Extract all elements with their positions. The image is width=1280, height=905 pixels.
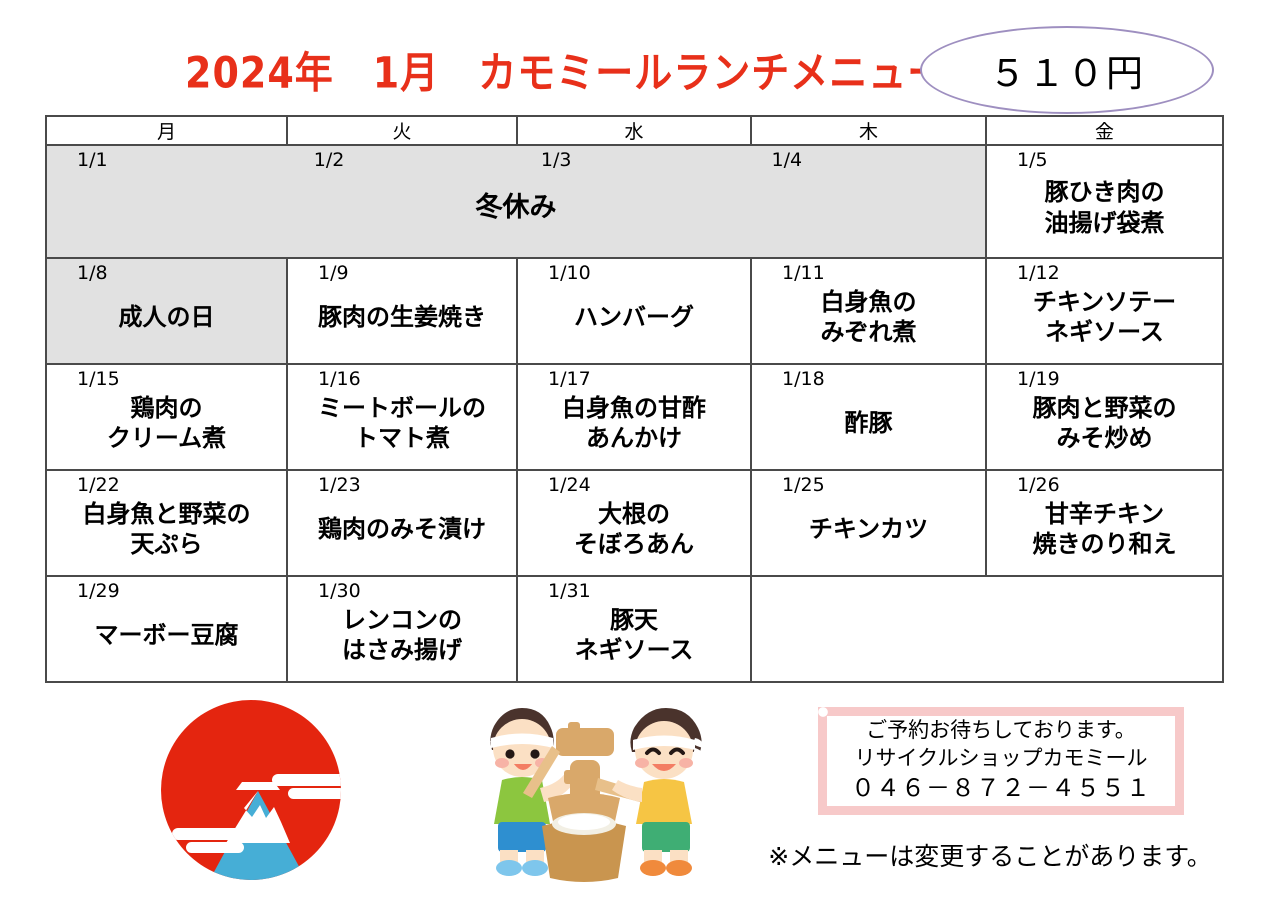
cell-date: 1/1 bbox=[53, 150, 290, 171]
cell-date: 1/31 bbox=[524, 581, 744, 602]
reservation-stamp-box: ご予約お待ちしております。 リサイクルショップカモミール ０４６－８７２－４５５… bbox=[818, 707, 1184, 815]
table-row: 1/29 マーボー豆腐 1/30 レンコンの はさみ揚げ 1/31 豚天 ネギソ… bbox=[46, 576, 1223, 682]
cell-menu: ミートボールの トマト煮 bbox=[294, 390, 510, 461]
price-label: ５１０円 bbox=[989, 43, 1145, 97]
cell-menu: ハンバーグ bbox=[524, 284, 744, 355]
table-header-row: 月 火 水 木 金 bbox=[46, 116, 1223, 145]
menu-cell: 1/12 チキンソテー ネギソース bbox=[986, 258, 1223, 364]
winter-break-cell: 1/1 1/2 1/3 1/4 冬休み bbox=[46, 145, 986, 258]
reservation-line-1: ご予約お待ちしております。 bbox=[866, 717, 1136, 745]
menu-cell: 1/24 大根の そぼろあん bbox=[517, 470, 751, 576]
menu-cell: 1/17 白身魚の甘酢 あんかけ bbox=[517, 364, 751, 470]
page-header: 2024年 1月 カモミールランチメニュー ５１０円 bbox=[0, 0, 1280, 110]
day-header-tuesday: 火 bbox=[287, 116, 517, 145]
reservation-inner: ご予約お待ちしております。 リサイクルショップカモミール ０４６－８７２－４５５… bbox=[827, 716, 1175, 806]
menu-cell: 1/31 豚天 ネギソース bbox=[517, 576, 751, 682]
menu-cell: 1/15 鶏肉の クリーム煮 bbox=[46, 364, 287, 470]
cell-date: 1/24 bbox=[524, 475, 744, 496]
day-header-wednesday: 水 bbox=[517, 116, 751, 145]
cell-menu: レンコンの はさみ揚げ bbox=[294, 602, 510, 673]
cell-date: 1/9 bbox=[294, 263, 510, 284]
cell-menu: 豚肉と野菜の みそ炒め bbox=[993, 390, 1216, 461]
cell-menu: 鶏肉の クリーム煮 bbox=[53, 390, 280, 461]
cell-date: 1/18 bbox=[758, 369, 979, 390]
menu-cell: 1/11 白身魚の みぞれ煮 bbox=[751, 258, 986, 364]
empty-cell bbox=[751, 576, 1223, 682]
mochi-pounding-children-icon bbox=[436, 698, 716, 883]
cell-menu: 鶏肉のみそ漬け bbox=[294, 496, 510, 567]
cell-menu: 大根の そぼろあん bbox=[524, 496, 744, 567]
monthly-menu-table: 月 火 水 木 金 1/1 1/2 1/3 1/4 冬休み bbox=[45, 115, 1224, 683]
reservation-phone[interactable]: ０４６－８７２－４５５１ bbox=[851, 773, 1151, 804]
reservation-line-2: リサイクルショップカモミール bbox=[855, 745, 1148, 773]
cell-date: 1/19 bbox=[993, 369, 1216, 390]
cell-menu: 酢豚 bbox=[758, 390, 979, 461]
cell-menu: 豚天 ネギソース bbox=[524, 602, 744, 673]
cell-date: 1/11 bbox=[758, 263, 979, 284]
menu-cell: 1/22 白身魚と野菜の 天ぷら bbox=[46, 470, 287, 576]
menu-cell: 1/10 ハンバーグ bbox=[517, 258, 751, 364]
cell-date: 1/26 bbox=[993, 475, 1216, 496]
child-right bbox=[612, 708, 703, 876]
menu-cell-holiday: 1/8 成人の日 bbox=[46, 258, 287, 364]
cell-date: 1/3 bbox=[517, 150, 748, 171]
cell-date: 1/8 bbox=[53, 263, 280, 284]
cell-date: 1/22 bbox=[53, 475, 280, 496]
cell-menu: マーボー豆腐 bbox=[53, 602, 280, 673]
table-row: 1/15 鶏肉の クリーム煮 1/16 ミートボールの トマト煮 1/17 白身… bbox=[46, 364, 1223, 470]
cell-menu: チキンカツ bbox=[758, 496, 979, 567]
cell-date: 1/25 bbox=[758, 475, 979, 496]
day-header-friday: 金 bbox=[986, 116, 1223, 145]
menu-cell: 1/16 ミートボールの トマト煮 bbox=[287, 364, 517, 470]
table-row: 1/8 成人の日 1/9 豚肉の生姜焼き 1/10 ハンバーグ 1/11 bbox=[46, 258, 1223, 364]
cell-date: 1/30 bbox=[294, 581, 510, 602]
cell-menu: 白身魚の甘酢 あんかけ bbox=[524, 390, 744, 461]
menu-cell: 1/9 豚肉の生姜焼き bbox=[287, 258, 517, 364]
menu-cell: 1/26 甘辛チキン 焼きのり和え bbox=[986, 470, 1223, 576]
menu-cell: 1/29 マーボー豆腐 bbox=[46, 576, 287, 682]
menu-cell: 1/25 チキンカツ bbox=[751, 470, 986, 576]
price-badge: ５１０円 bbox=[920, 26, 1214, 114]
cell-menu: 白身魚の みぞれ煮 bbox=[758, 284, 979, 355]
cell-date: 1/17 bbox=[524, 369, 744, 390]
day-header-monday: 月 bbox=[46, 116, 287, 145]
menu-cell: 1/18 酢豚 bbox=[751, 364, 986, 470]
cell-menu: 冬休み bbox=[53, 171, 979, 249]
menu-change-disclaimer: ※メニューは変更することがあります。 bbox=[740, 837, 1240, 873]
cell-menu: 成人の日 bbox=[53, 284, 280, 355]
day-header-thursday: 木 bbox=[751, 116, 986, 145]
mount-fuji-sun-icon bbox=[148, 698, 354, 883]
page-footer: ご予約お待ちしております。 リサイクルショップカモミール ０４６－８７２－４５５… bbox=[0, 690, 1280, 905]
cell-date: 1/12 bbox=[993, 263, 1216, 284]
menu-cell: 1/19 豚肉と野菜の みそ炒め bbox=[986, 364, 1223, 470]
menu-cell: 1/5 豚ひき肉の 油揚げ袋煮 bbox=[986, 145, 1223, 258]
menu-cell: 1/23 鶏肉のみそ漬け bbox=[287, 470, 517, 576]
cell-date: 1/5 bbox=[993, 150, 1216, 171]
table-row: 1/1 1/2 1/3 1/4 冬休み 1/5 豚ひき肉の 油揚げ袋煮 bbox=[46, 145, 1223, 258]
menu-cell: 1/30 レンコンの はさみ揚げ bbox=[287, 576, 517, 682]
table-row: 1/22 白身魚と野菜の 天ぷら 1/23 鶏肉のみそ漬け 1/24 大根の そ… bbox=[46, 470, 1223, 576]
cell-menu: 豚ひき肉の 油揚げ袋煮 bbox=[993, 171, 1216, 249]
cell-date: 1/4 bbox=[747, 150, 979, 171]
cell-date: 1/15 bbox=[53, 369, 280, 390]
cell-date: 1/23 bbox=[294, 475, 510, 496]
cell-date: 1/10 bbox=[524, 263, 744, 284]
cell-date: 1/29 bbox=[53, 581, 280, 602]
cell-menu: チキンソテー ネギソース bbox=[993, 284, 1216, 355]
cell-menu: 白身魚と野菜の 天ぷら bbox=[53, 496, 280, 567]
page-title: 2024年 1月 カモミールランチメニュー bbox=[185, 38, 845, 100]
cell-menu: 甘辛チキン 焼きのり和え bbox=[993, 496, 1216, 567]
cell-date: 1/16 bbox=[294, 369, 510, 390]
cell-date: 1/2 bbox=[290, 150, 517, 171]
cell-menu: 豚肉の生姜焼き bbox=[294, 284, 510, 355]
